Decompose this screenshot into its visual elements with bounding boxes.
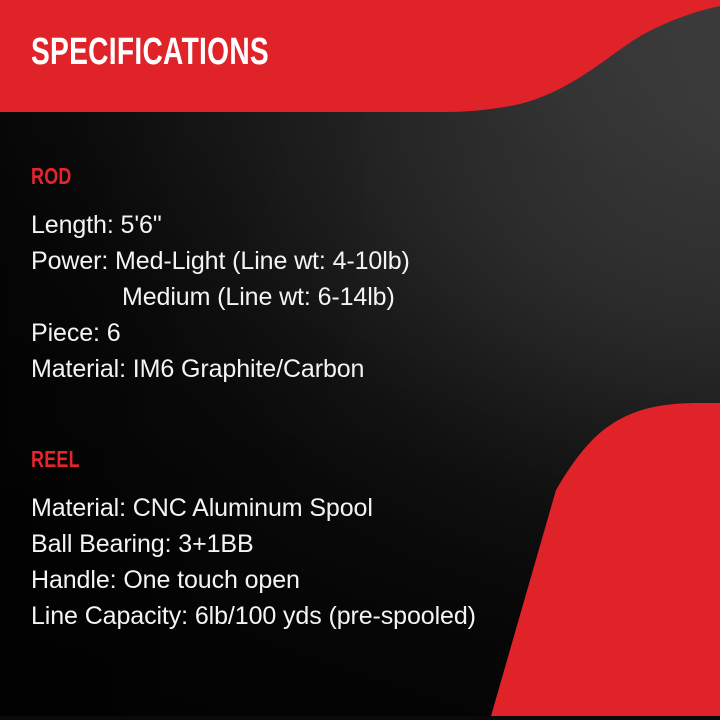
specifications-content: ROD Length: 5'6" Power: Med-Light (Line … (0, 0, 720, 720)
section-rod: ROD Length: 5'6" Power: Med-Light (Line … (31, 162, 651, 387)
specifications-card: SPECIFICATIONS ROD Length: 5'6" Power: M… (0, 0, 720, 720)
section-reel: REEL Material: CNC Aluminum Spool Ball B… (31, 445, 651, 634)
section-heading-rod: ROD (31, 162, 515, 190)
spec-item: Medium (Line wt: 6-14lb) (31, 279, 651, 315)
spec-item: Power: Med-Light (Line wt: 4-10lb) (31, 243, 651, 279)
spec-item: Material: IM6 Graphite/Carbon (31, 351, 651, 387)
spec-list-reel: Material: CNC Aluminum Spool Ball Bearin… (31, 490, 651, 634)
spec-item: Piece: 6 (31, 315, 651, 351)
spec-item: Handle: One touch open (31, 562, 651, 598)
spec-item: Line Capacity: 6lb/100 yds (pre-spooled) (31, 598, 651, 634)
spec-list-rod: Length: 5'6" Power: Med-Light (Line wt: … (31, 207, 651, 387)
section-heading-reel: REEL (31, 445, 515, 473)
spec-item: Material: CNC Aluminum Spool (31, 490, 651, 526)
spec-item: Ball Bearing: 3+1BB (31, 526, 651, 562)
spec-item: Length: 5'6" (31, 207, 651, 243)
